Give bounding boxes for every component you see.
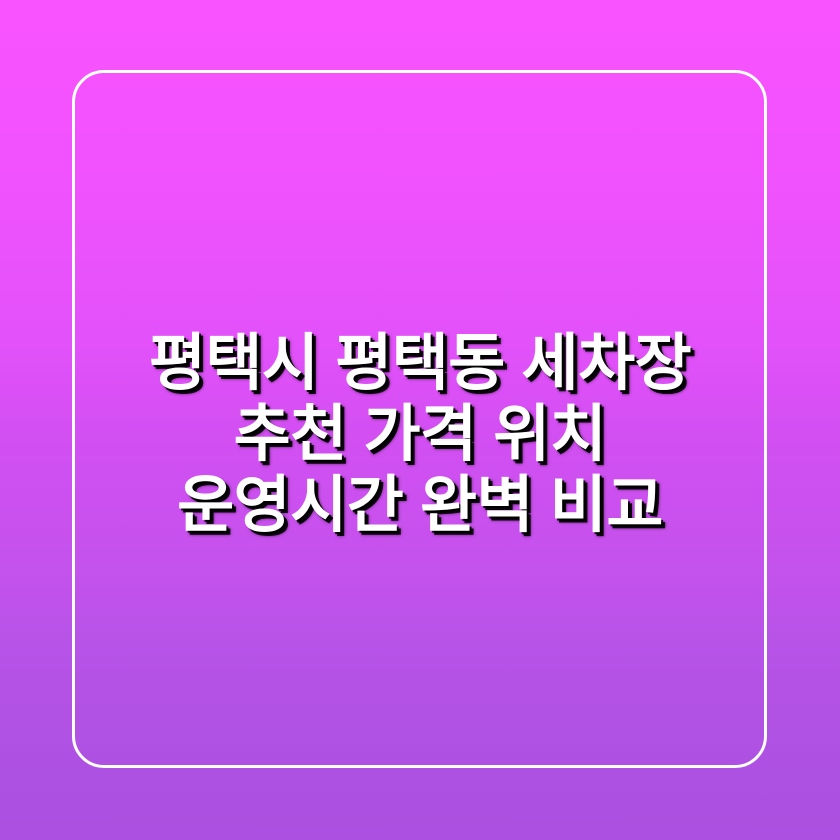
title-line-3: 운영시간 완벽 비교 bbox=[0, 470, 840, 541]
title-line-2: 추천 가격 위치 bbox=[0, 399, 840, 470]
title-line-1: 평택시 평택동 세차장 bbox=[0, 328, 840, 399]
poster-canvas: 평택시 평택동 세차장 추천 가격 위치 운영시간 완벽 비교 bbox=[0, 0, 840, 840]
title-block: 평택시 평택동 세차장 추천 가격 위치 운영시간 완벽 비교 bbox=[0, 0, 840, 840]
